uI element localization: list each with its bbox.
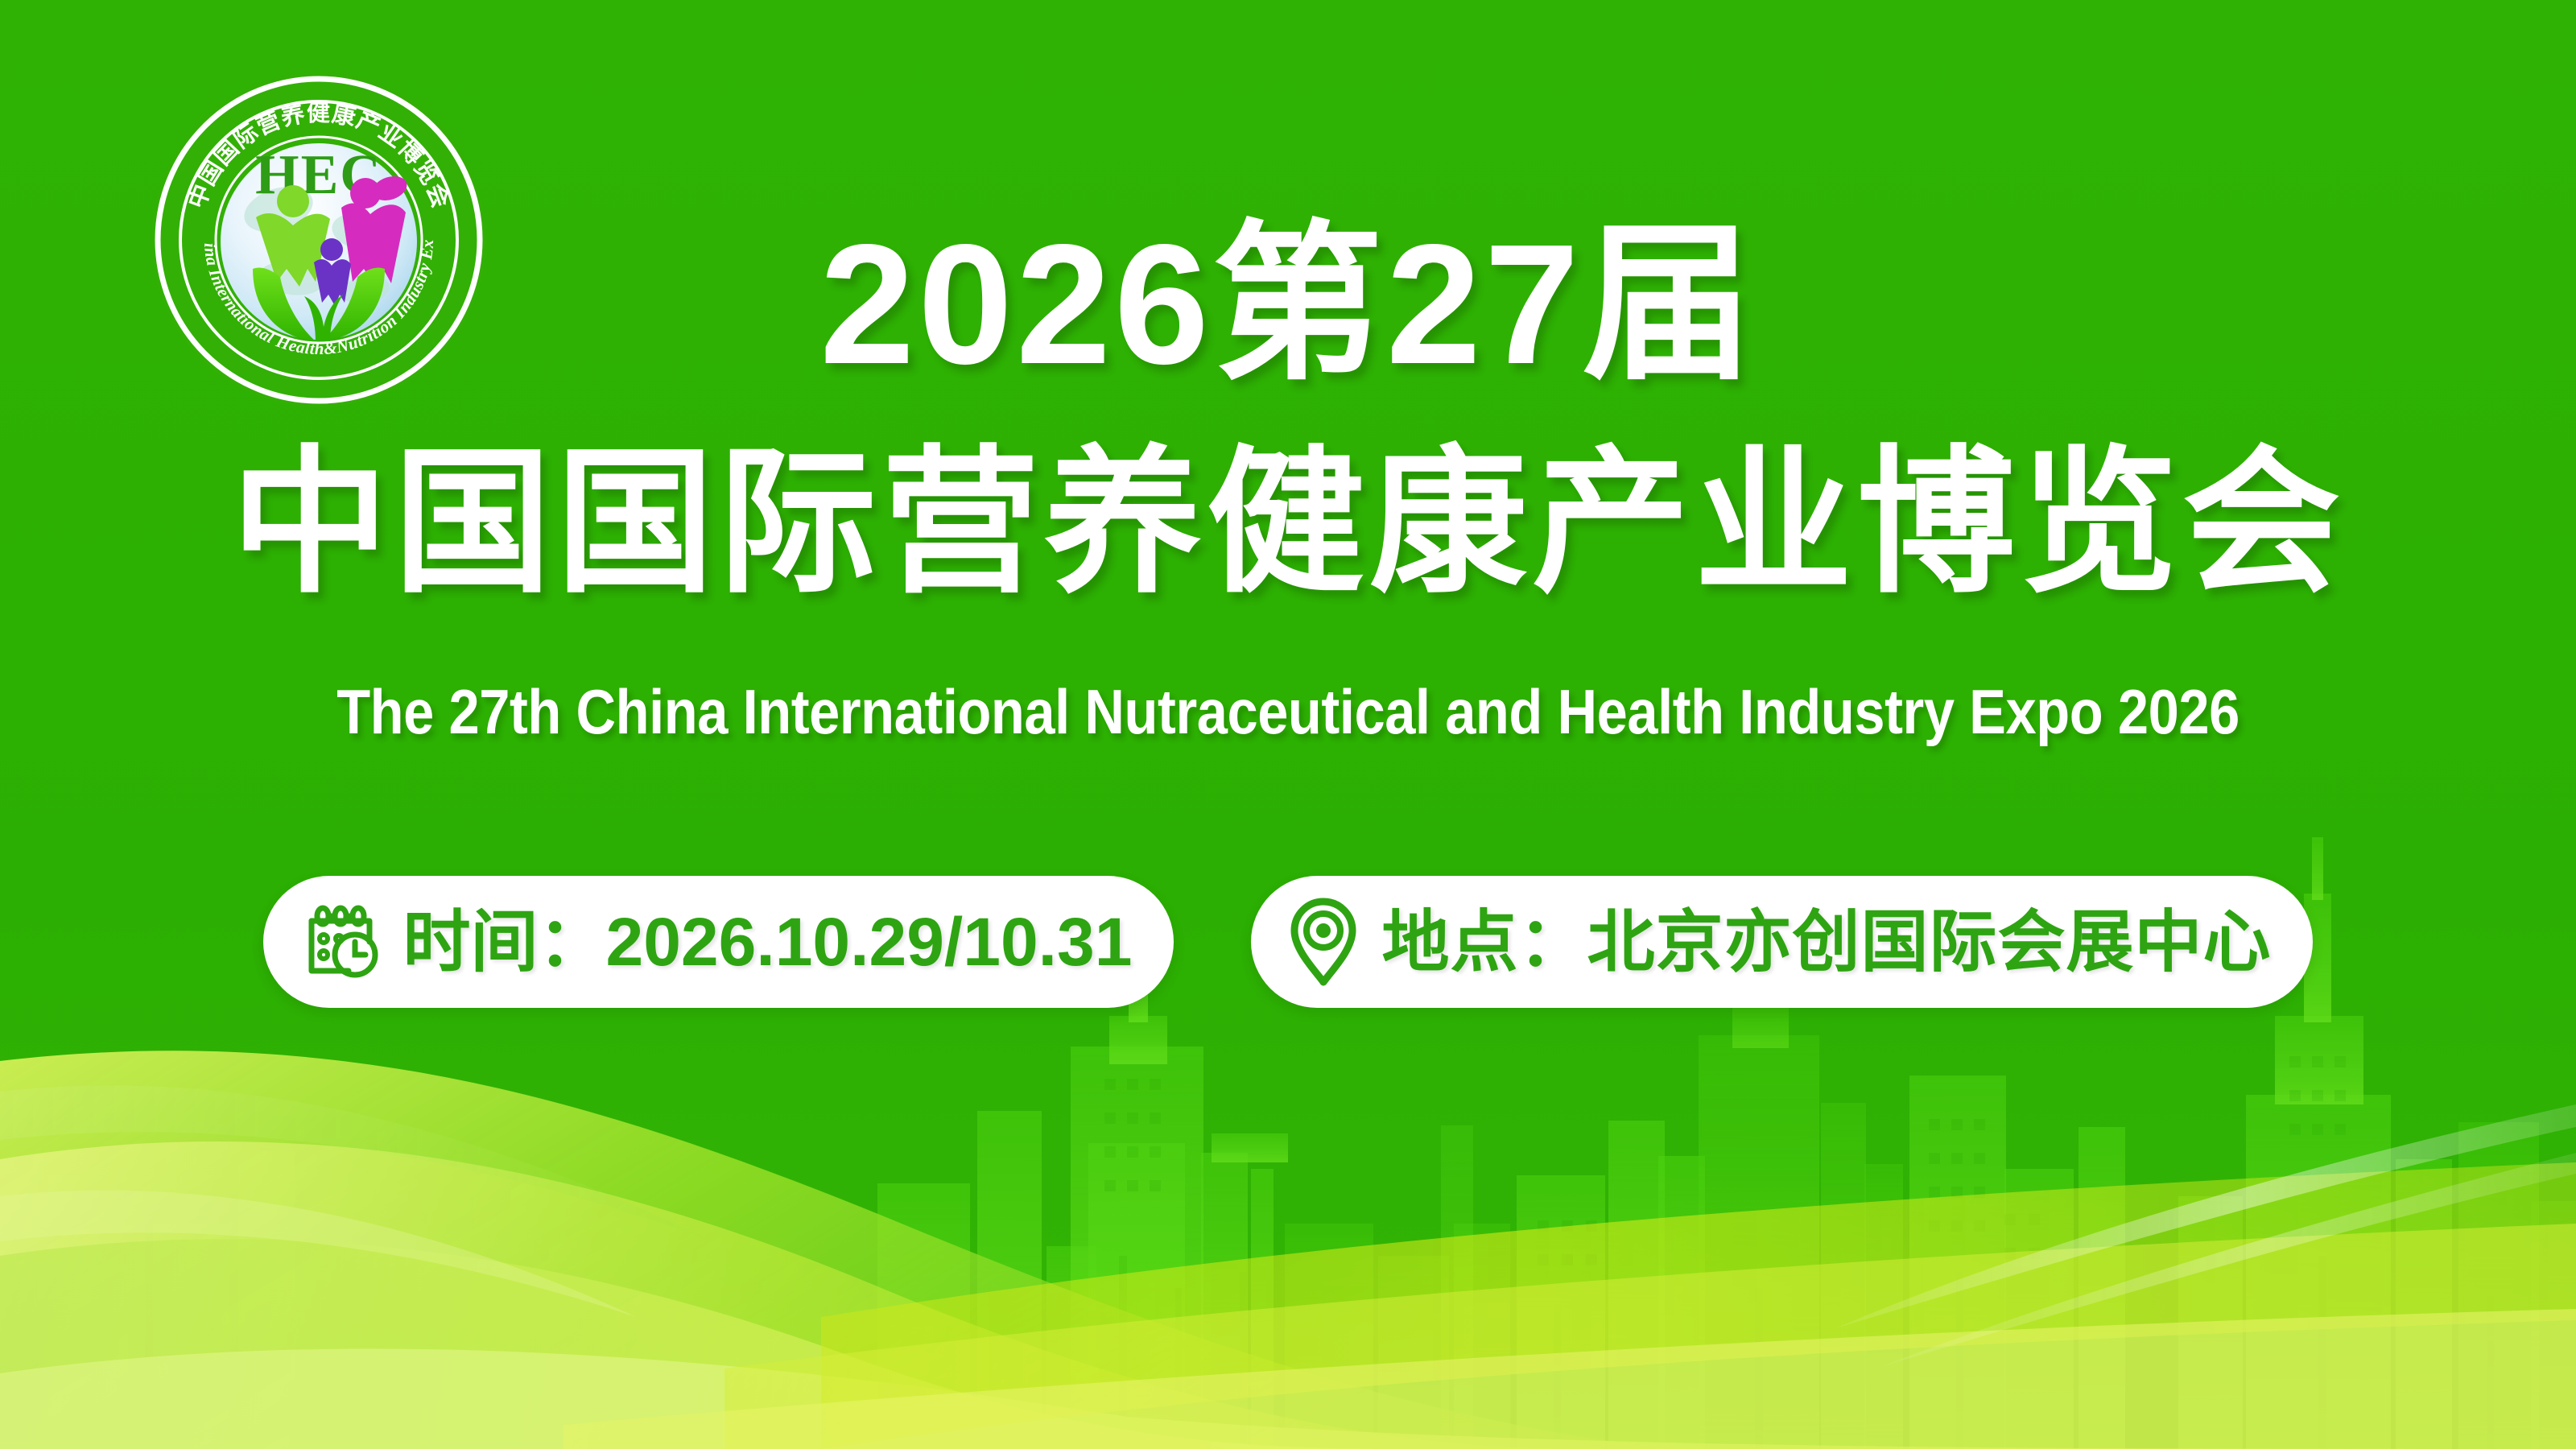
headline-edition: 2026第27届	[0, 219, 2576, 390]
venue-pill[interactable]: 地点：北京亦创国际会展中心	[1251, 876, 2313, 1008]
venue-pill-text: 地点：北京亦创国际会展中心	[1381, 908, 2271, 976]
headline-title-cn: 中国国际营养健康产业博览会	[0, 444, 2576, 602]
calendar-clock-icon	[299, 900, 382, 984]
expo-banner: HEC 中国国际营养健康产业博览会	[0, 0, 2576, 1449]
info-pill-row: 时间：2026.10.29/10.31 地点：北京亦创国际会展中心	[0, 876, 2576, 1008]
headline-title-en: The 27th China International Nutraceutic…	[155, 676, 2421, 749]
date-pill-text: 时间：2026.10.29/10.31	[403, 908, 1133, 976]
date-pill[interactable]: 时间：2026.10.29/10.31	[263, 876, 1174, 1008]
location-pin-icon	[1286, 897, 1360, 987]
